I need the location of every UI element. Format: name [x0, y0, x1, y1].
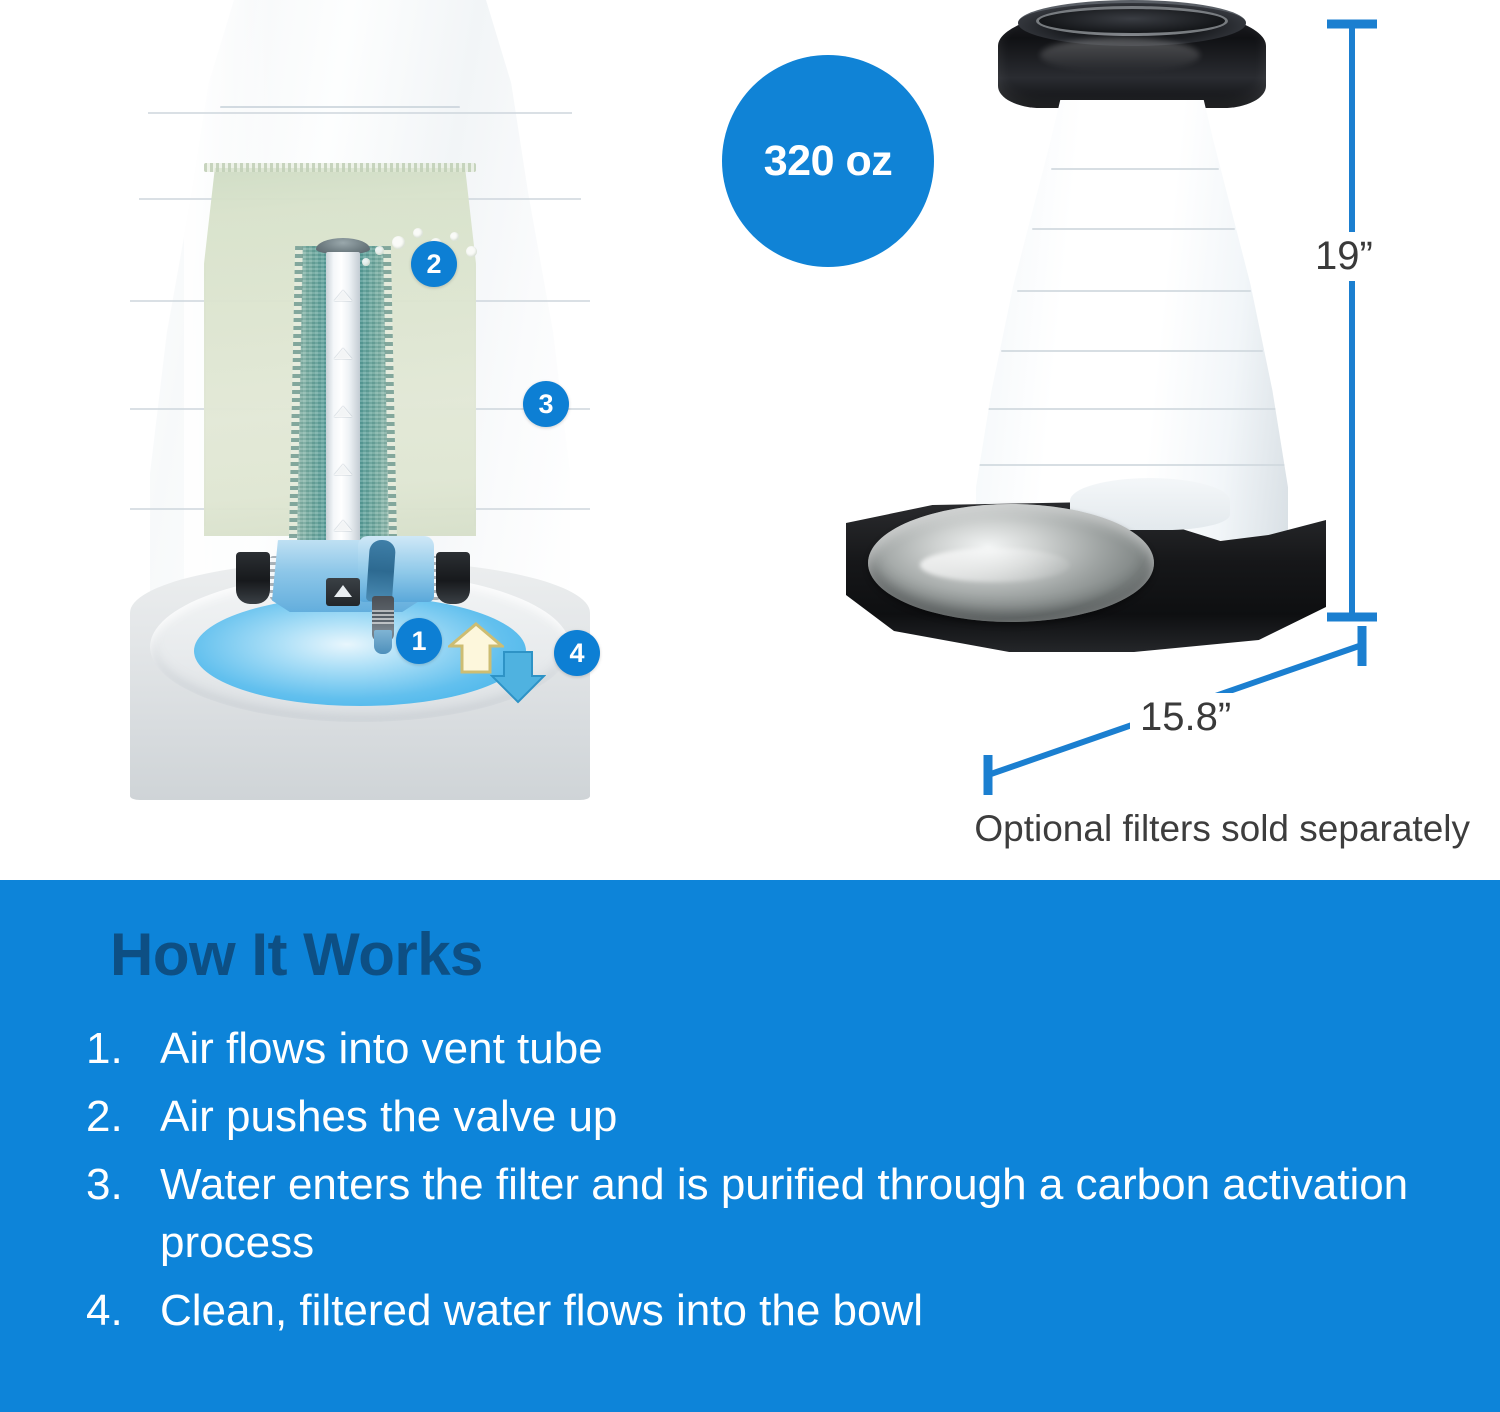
step-text: Air flows into vent tube: [160, 1020, 1416, 1078]
step-number: 2.: [86, 1088, 160, 1146]
step-text: Water enters the filter and is purified …: [160, 1156, 1416, 1272]
list-item: 3. Water enters the filter and is purifi…: [86, 1156, 1416, 1272]
dimension-annotations: 19” 15.8”: [0, 0, 1500, 880]
list-item: 4. Clean, filtered water flows into the …: [86, 1282, 1416, 1340]
step-number: 4.: [86, 1282, 160, 1340]
width-dimension-label: 15.8”: [1130, 693, 1241, 742]
panel-title: How It Works: [110, 920, 483, 989]
how-it-works-panel: How It Works 1. Air flows into vent tube…: [0, 880, 1500, 1412]
product-illustration-area: 1 2 3 4 320 oz: [0, 0, 1500, 880]
step-text: Air pushes the valve up: [160, 1088, 1416, 1146]
list-item: 1. Air flows into vent tube: [86, 1020, 1416, 1078]
height-dimension-label: 19”: [1305, 232, 1383, 281]
infographic-page: 1 2 3 4 320 oz: [0, 0, 1500, 1412]
step-number: 3.: [86, 1156, 160, 1214]
step-number: 1.: [86, 1020, 160, 1078]
list-item: 2. Air pushes the valve up: [86, 1088, 1416, 1146]
filters-note: Optional filters sold separately: [974, 808, 1470, 850]
steps-list: 1. Air flows into vent tube 2. Air pushe…: [86, 1020, 1416, 1350]
step-text: Clean, filtered water flows into the bow…: [160, 1282, 1416, 1340]
